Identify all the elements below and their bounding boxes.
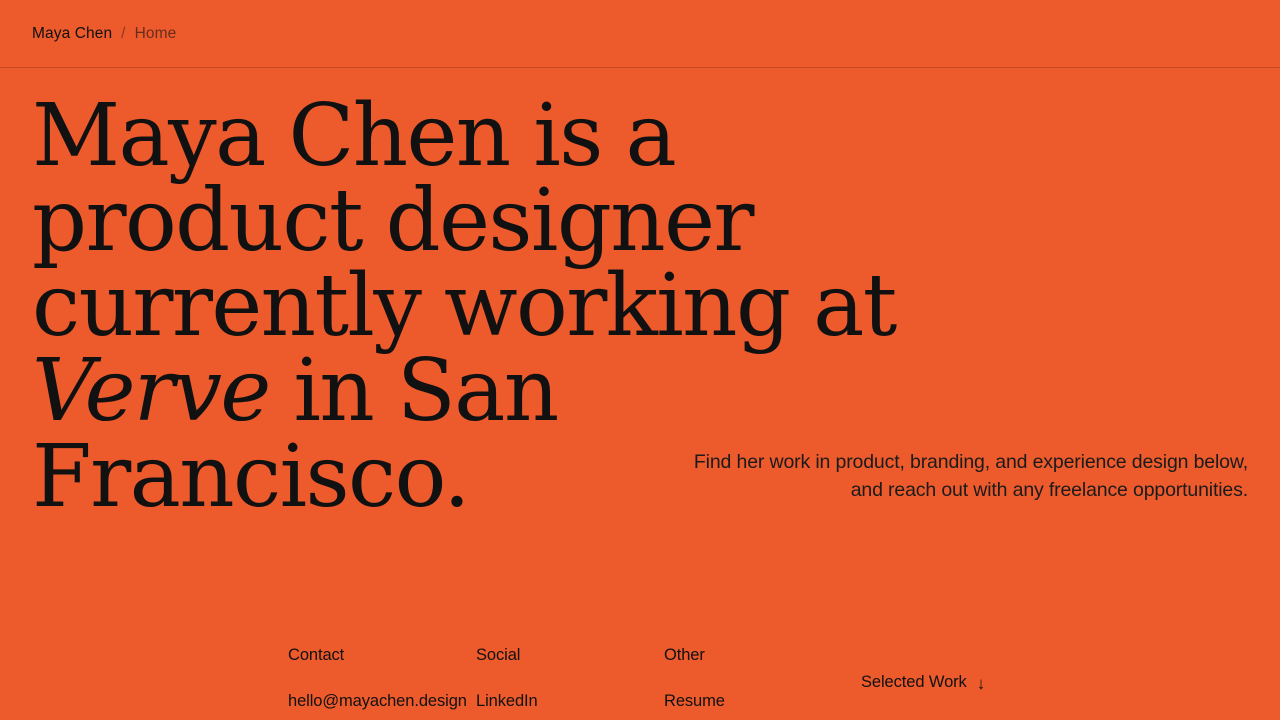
breadcrumb-separator: / <box>121 25 125 43</box>
selected-work-label: Selected Work <box>861 673 967 692</box>
footer-link-resume[interactable]: Resume <box>664 692 860 711</box>
footer-column-other: Other Resume <box>664 646 860 720</box>
footer: Contact hello@mayachen.design Social Lin… <box>0 604 1280 720</box>
breadcrumb-root[interactable]: Maya Chen <box>32 25 112 43</box>
footer-heading-contact: Contact <box>288 646 476 665</box>
footer-link-linkedin[interactable]: LinkedIn <box>476 692 664 711</box>
breadcrumb: Maya Chen / Home <box>32 25 176 43</box>
footer-column-contact: Contact hello@mayachen.design <box>288 646 476 720</box>
top-bar: Maya Chen / Home <box>0 0 1280 68</box>
footer-columns: Contact hello@mayachen.design Social Lin… <box>288 646 1248 720</box>
footer-heading-social: Social <box>476 646 664 665</box>
breadcrumb-current: Home <box>135 25 177 43</box>
intro-paragraph: Find her work in product, branding, and … <box>688 448 1248 505</box>
footer-column-social: Social LinkedIn <box>476 646 664 720</box>
arrow-down-icon: ↓ <box>977 675 985 692</box>
footer-heading-other: Other <box>664 646 860 665</box>
selected-work-button[interactable]: Selected Work ↓ <box>861 673 985 692</box>
footer-link-email[interactable]: hello@mayachen.design <box>288 692 476 711</box>
page-root: Maya Chen / Home Maya Chen is a product … <box>0 0 1280 720</box>
